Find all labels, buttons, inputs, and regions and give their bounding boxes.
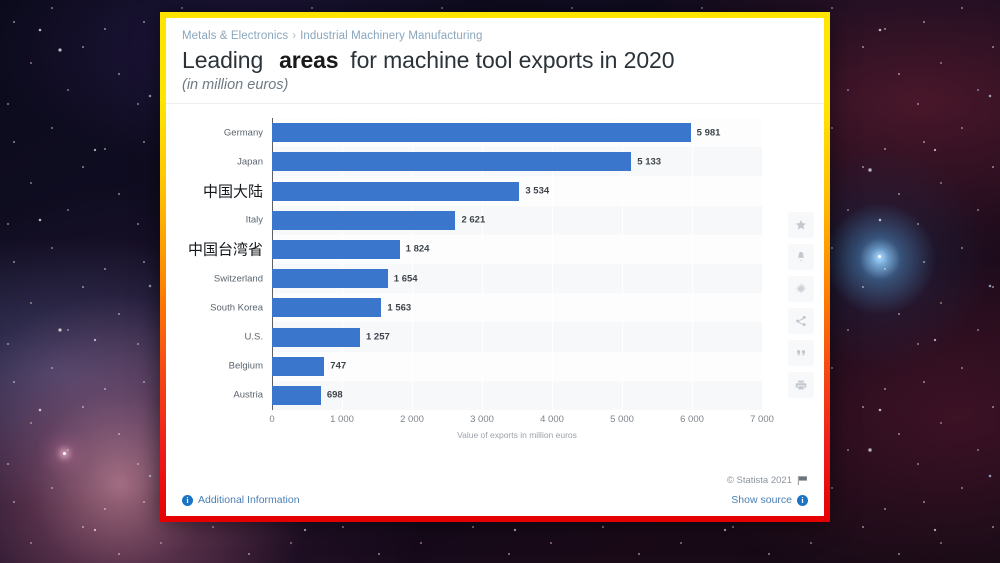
bell-icon[interactable] (788, 244, 814, 270)
plot-region: Germany5 981Japan5 133中国大陆3 534Italy2 62… (272, 118, 762, 410)
bar-value-label: 1 654 (394, 273, 418, 284)
quote-icon[interactable] (788, 340, 814, 366)
bar[interactable]: 5 133 (272, 152, 631, 171)
bar-value-label: 5 981 (697, 127, 721, 138)
additional-information-link[interactable]: i Additional Information (182, 494, 300, 506)
x-axis-tick-label: 2 000 (400, 414, 424, 425)
gridline (762, 118, 763, 410)
page-title: Leading areas for machine tool exports i… (182, 47, 808, 74)
highlight-frame: Metals & Electronics›Industrial Machiner… (160, 12, 830, 522)
x-axis: 01 0002 0003 0004 0005 0006 0007 000 (272, 410, 762, 426)
info-icon: i (182, 495, 193, 506)
share-icon[interactable] (788, 308, 814, 334)
bar-row: Austria698 (272, 381, 762, 410)
category-label: 中国大陆 (203, 181, 263, 202)
card-footer: © Statista 2021 i Additional Information… (166, 475, 824, 516)
breadcrumb: Metals & Electronics›Industrial Machiner… (182, 30, 808, 42)
category-label: Italy (246, 215, 263, 226)
bar-value-label: 1 563 (387, 302, 411, 313)
title-after: for machine tool exports in 2020 (350, 47, 674, 74)
additional-information-label: Additional Information (198, 494, 300, 506)
title-before: Leading (182, 47, 263, 74)
card-header: Metals & Electronics›Industrial Machiner… (166, 18, 824, 104)
show-source-link[interactable]: Show source i (731, 494, 808, 506)
statista-chart-card: Metals & Electronics›Industrial Machiner… (166, 18, 824, 516)
breadcrumb-item-1[interactable]: Industrial Machinery Manufacturing (300, 30, 482, 42)
title-highlight: areas (279, 47, 338, 74)
category-label: U.S. (245, 332, 263, 343)
bar-value-label: 1 257 (366, 332, 390, 343)
bar-value-label: 1 824 (406, 244, 430, 255)
category-label: 中国台湾省 (188, 239, 263, 260)
copyright-row: © Statista 2021 (182, 475, 808, 486)
bar-value-label: 747 (330, 361, 346, 372)
desktop-background: Metals & Electronics›Industrial Machiner… (0, 0, 1000, 563)
category-label: South Korea (210, 302, 263, 313)
x-axis-tick-label: 4 000 (540, 414, 564, 425)
bar[interactable]: 1 257 (272, 328, 360, 347)
bar-row: Germany5 981 (272, 118, 762, 147)
category-label: Austria (233, 390, 263, 401)
bar-row: South Korea1 563 (272, 293, 762, 322)
bar-row: 中国大陆3 534 (272, 176, 762, 205)
chart-toolbar[interactable] (788, 212, 814, 398)
bar[interactable]: 2 621 (272, 211, 455, 230)
bar-value-label: 3 534 (525, 186, 549, 197)
star-icon[interactable] (788, 212, 814, 238)
bright-star (63, 452, 66, 455)
category-label: Switzerland (214, 273, 263, 284)
bar-row: Belgium747 (272, 352, 762, 381)
category-label: Japan (237, 156, 263, 167)
bar[interactable]: 1 563 (272, 298, 381, 317)
x-axis-tick-label: 0 (269, 414, 274, 425)
info-icon: i (797, 495, 808, 506)
bar[interactable]: 3 534 (272, 182, 519, 201)
footer-links: i Additional Information Show source i (182, 494, 808, 506)
chart-area: Germany5 981Japan5 133中国大陆3 534Italy2 62… (166, 104, 824, 475)
bar-row: 中国台湾省1 824 (272, 235, 762, 264)
printer-icon[interactable] (788, 372, 814, 398)
x-axis-tick-label: 5 000 (610, 414, 634, 425)
bar[interactable]: 698 (272, 386, 321, 405)
bar-value-label: 698 (327, 390, 343, 401)
x-axis-tick-label: 6 000 (680, 414, 704, 425)
breadcrumb-separator: › (292, 30, 296, 42)
bar[interactable]: 747 (272, 357, 324, 376)
bar-row: U.S.1 257 (272, 322, 762, 351)
category-label: Germany (224, 127, 263, 138)
flag-icon (797, 476, 808, 485)
x-axis-tick-label: 3 000 (470, 414, 494, 425)
x-axis-tick-label: 1 000 (330, 414, 354, 425)
bar[interactable]: 1 824 (272, 240, 400, 259)
x-axis-title: Value of exports in million euros (272, 430, 762, 440)
page-subtitle: (in million euros) (182, 77, 808, 93)
bar-rows: Germany5 981Japan5 133中国大陆3 534Italy2 62… (272, 118, 762, 410)
bar-row: Italy2 621 (272, 206, 762, 235)
bar-value-label: 5 133 (637, 156, 661, 167)
bright-star (878, 255, 881, 258)
gear-icon[interactable] (788, 276, 814, 302)
bar-value-label: 2 621 (461, 215, 485, 226)
breadcrumb-item-0[interactable]: Metals & Electronics (182, 30, 288, 42)
bar[interactable]: 5 981 (272, 123, 691, 142)
bar[interactable]: 1 654 (272, 269, 388, 288)
copyright-text: © Statista 2021 (727, 475, 792, 486)
x-axis-tick-label: 7 000 (750, 414, 774, 425)
bar-row: Japan5 133 (272, 147, 762, 176)
category-label: Belgium (229, 361, 263, 372)
bar-row: Switzerland1 654 (272, 264, 762, 293)
show-source-label: Show source (731, 494, 792, 506)
